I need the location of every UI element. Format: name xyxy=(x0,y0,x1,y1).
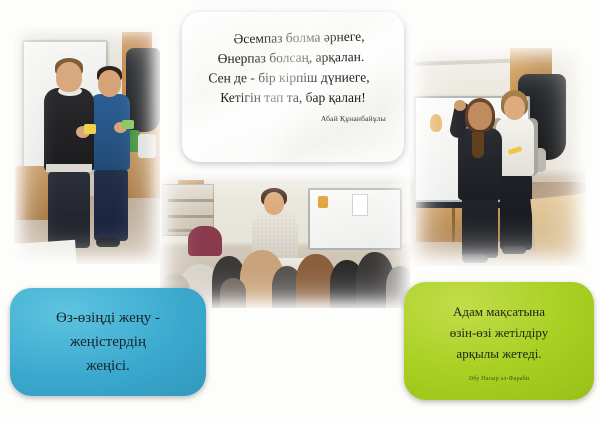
whiteboard-note xyxy=(318,196,328,208)
poem-line-2: Өнерпаз болсаң, арқалан. xyxy=(192,47,390,70)
boy-dark-shirt-hem xyxy=(46,164,92,172)
shelf-row xyxy=(168,215,214,218)
boy-blue-shoes xyxy=(96,238,120,247)
girl-hand xyxy=(454,100,466,111)
photo-left-scene xyxy=(14,26,160,264)
girl-dark-uniform-legs xyxy=(462,196,498,258)
cubby-divider xyxy=(452,208,455,242)
student-silhouette xyxy=(220,278,246,308)
poem-line-3: Сен де - бір кірпіш дүниеге, xyxy=(190,67,388,88)
quote-green-line-3: арқылы жетеді. xyxy=(456,343,541,364)
photo-collage: Әсемпаз болма әрнеге, Өнерпаз болсаң, ар… xyxy=(0,0,600,422)
photo-center-classroom xyxy=(160,170,410,308)
girl-ponytail xyxy=(472,128,484,158)
photo-right-two-girls xyxy=(410,44,586,266)
whiteboard-poster xyxy=(352,194,368,216)
quote-box-blue: Өз-өзіңді жеңу - жеңістердің жеңісі. xyxy=(10,288,206,396)
photo-left-two-boys xyxy=(14,26,160,264)
whiteboard-drawing xyxy=(430,114,442,132)
teacher-head xyxy=(264,192,284,215)
boy-blue-head xyxy=(98,70,121,97)
poem-line-4: Кетігін тап та, бар қалан! xyxy=(194,88,392,108)
girl-white-blouse-head xyxy=(504,96,525,120)
quote-blue-line-1: Өз-өзіңді жеңу - xyxy=(56,306,160,330)
girl-white-blouse-shoes xyxy=(502,246,526,254)
quote-green-line-2: өзін-өзі жетілдіру xyxy=(450,322,548,343)
boy-dark-legs xyxy=(48,172,90,248)
quote-blue-line-3: жеңісі. xyxy=(86,354,130,378)
white-bag xyxy=(138,134,156,158)
yellow-note-card xyxy=(84,124,96,134)
quote-box-green: Адам мақсатына өзін-өзі жетілдіру арқылы… xyxy=(404,282,594,400)
shelf-row xyxy=(168,199,214,202)
poem-author: Абай Құнанбайұлы xyxy=(194,114,392,123)
quote-blue-line-2: жеңістердің xyxy=(70,330,146,354)
boy-blue-legs xyxy=(94,169,128,241)
photo-center-scene xyxy=(160,170,410,308)
poem-card: Әсемпаз болма әрнеге, Өнерпаз болсаң, ар… xyxy=(182,12,404,162)
girl-dark-uniform-head xyxy=(468,102,492,130)
photo-right-scene xyxy=(410,44,586,266)
quote-green-author: Әбу Насыр әл-Фараби xyxy=(469,376,530,382)
boy-dark-head xyxy=(56,62,82,92)
desk-edge xyxy=(14,240,77,264)
girl-dark-uniform-shoes xyxy=(462,254,488,263)
green-note-card xyxy=(122,120,134,129)
girl-white-blouse-legs xyxy=(500,174,532,250)
table xyxy=(530,193,586,266)
quote-green-line-1: Адам мақсатына xyxy=(453,301,545,322)
